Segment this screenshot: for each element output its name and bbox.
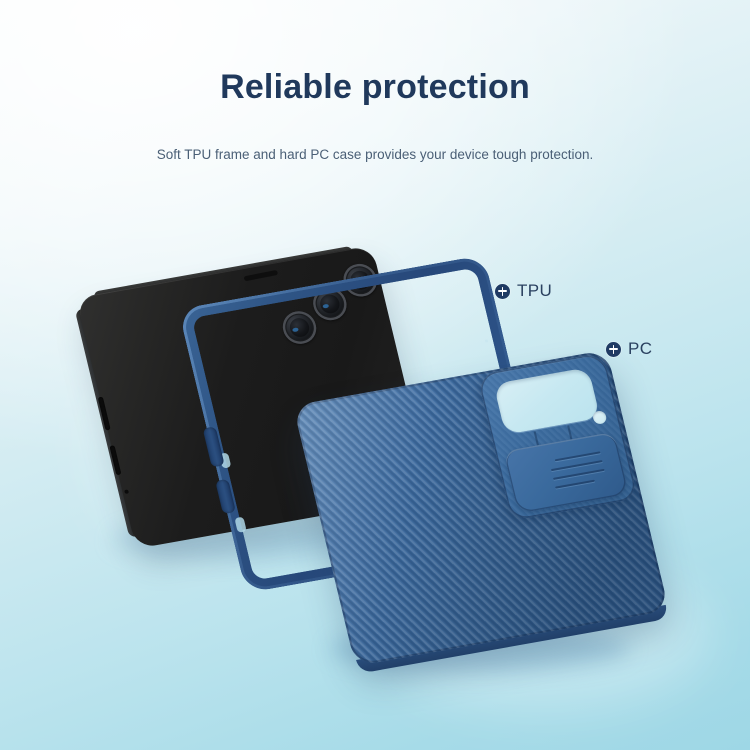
slider-grip-line — [555, 480, 595, 489]
callout-pc: PC — [606, 339, 652, 359]
plus-circle-icon — [495, 284, 510, 299]
plus-circle-icon — [606, 342, 621, 357]
callout-tpu-label: TPU — [517, 281, 552, 301]
callout-pc-label: PC — [628, 339, 652, 359]
slider-grip-line — [555, 451, 601, 461]
slider-grip-line — [553, 469, 605, 480]
callout-tpu: TPU — [495, 281, 552, 301]
page-title: Reliable protection — [0, 68, 750, 107]
product-feature-slide: Reliable protection Soft TPU frame and h… — [0, 0, 750, 750]
pc-back-plate — [293, 350, 669, 666]
page-subtitle: Soft TPU frame and hard PC case provides… — [125, 143, 625, 166]
